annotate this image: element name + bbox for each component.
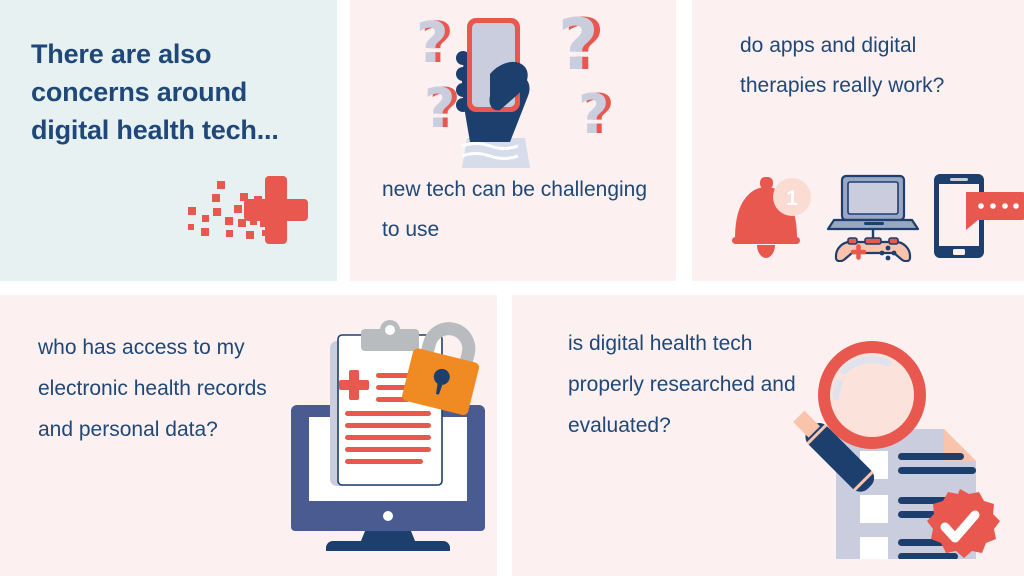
question-mark-icon: ? ? [424,82,468,140]
pixel-dot [268,212,282,217]
pixel-dot [226,230,233,237]
pixel-dot [217,181,225,189]
pixel-dot [250,218,257,225]
pixel-dot [249,207,256,214]
pixel-dot [238,219,246,227]
usability-caption: new tech can be challenging to use [382,170,657,250]
pixel-dot [188,207,196,215]
panel-evidence: is digital health tech properly research… [512,295,1024,576]
pixel-dot [212,194,220,202]
infographic-canvas: There are also concerns around digital h… [0,0,1024,576]
smartphone-chat-bubble-icon [930,172,1024,260]
pixel-dot [262,230,268,236]
pixelated-health-cross-icon [188,176,308,244]
pixel-dot [225,217,233,225]
magnifying-glass-checklist-verified-icon [770,323,1006,559]
bell-badge-count: 1 [786,187,798,210]
hand-phone-illustration [350,0,676,172]
pixel-dot [201,228,209,236]
pixel-dot [268,223,282,228]
pixel-dot [258,209,264,215]
panel-privacy: who has access to my electronic health r… [0,295,497,576]
pixel-dot [234,205,242,213]
laptop-and-gamepad-icon [826,174,922,262]
pixel-dot [246,231,254,239]
monitor-medical-record-padlock-icon [283,317,493,557]
efficacy-icon-row: 1 [692,168,1024,260]
pixel-dot [202,215,209,222]
pixel-dot [213,208,221,216]
privacy-caption: who has access to my electronic health r… [38,327,288,450]
panel-intro: There are also concerns around digital h… [0,0,337,281]
hand-holding-smartphone-with-question-marks-icon: ? ? ? ? ? ? ? ? [350,0,676,172]
pixel-dot [188,224,194,230]
efficacy-caption: do apps and digital therapies really wor… [740,26,1000,106]
pixel-dot [254,196,262,204]
question-mark-icon: ? ? [578,88,622,146]
pixel-dot [260,221,266,227]
intro-headline: There are also concerns around digital h… [31,35,301,149]
panel-usability: ? ? ? ? ? ? ? ? new tech can be challeng… [350,0,676,281]
notification-bell-icon: 1 [722,173,818,261]
panel-efficacy: do apps and digital therapies really wor… [692,0,1024,281]
pixel-dot [264,200,270,206]
question-mark-icon: ? ? [558,10,614,82]
question-mark-icon: ? ? [416,16,460,74]
pixel-dot [240,193,248,201]
